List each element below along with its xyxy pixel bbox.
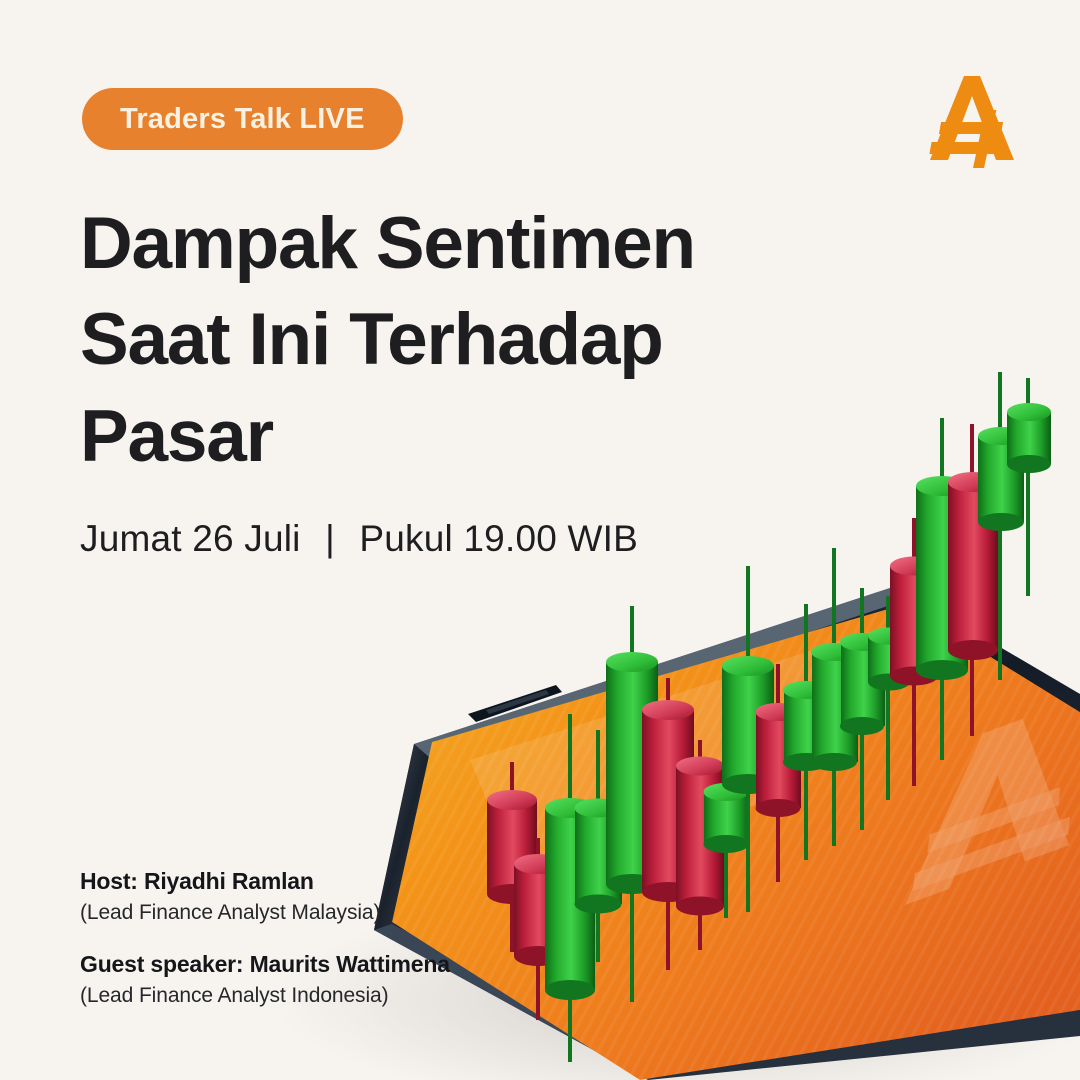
poster-canvas: Traders Talk LIVE Dampak Sentimen Saat I… bbox=[0, 0, 1080, 1080]
guest-role: (Lead Finance Analyst Indonesia) bbox=[80, 984, 450, 1008]
host-name: Host: Riyadhi Ramlan bbox=[80, 868, 450, 895]
guest-name: Guest speaker: Maurits Wattimena bbox=[80, 951, 450, 978]
host-role: (Lead Finance Analyst Malaysia) bbox=[80, 901, 450, 925]
speaker-credits: Host: Riyadhi Ramlan (Lead Finance Analy… bbox=[80, 868, 450, 1008]
guest-credit: Guest speaker: Maurits Wattimena (Lead F… bbox=[80, 951, 450, 1008]
host-credit: Host: Riyadhi Ramlan (Lead Finance Analy… bbox=[80, 868, 450, 925]
